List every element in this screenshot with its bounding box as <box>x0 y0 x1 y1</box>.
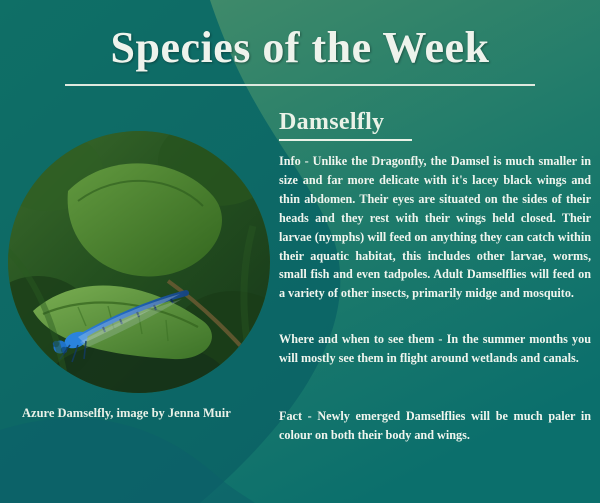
species-name-underline <box>279 139 412 141</box>
where-when-paragraph: Where and when to see them - In the summ… <box>279 330 591 368</box>
poster: Species of the Week <box>0 0 600 503</box>
fact-paragraph: Fact - Newly emerged Damselflies will be… <box>279 407 591 445</box>
image-caption: Azure Damselfly, image by Jenna Muir <box>22 405 272 421</box>
title-underline <box>65 84 535 86</box>
info-paragraph: Info - Unlike the Dragonfly, the Damsel … <box>279 152 591 303</box>
species-photo <box>8 131 270 393</box>
species-name: Damselfly <box>279 109 384 136</box>
page-title: Species of the Week <box>0 22 600 73</box>
